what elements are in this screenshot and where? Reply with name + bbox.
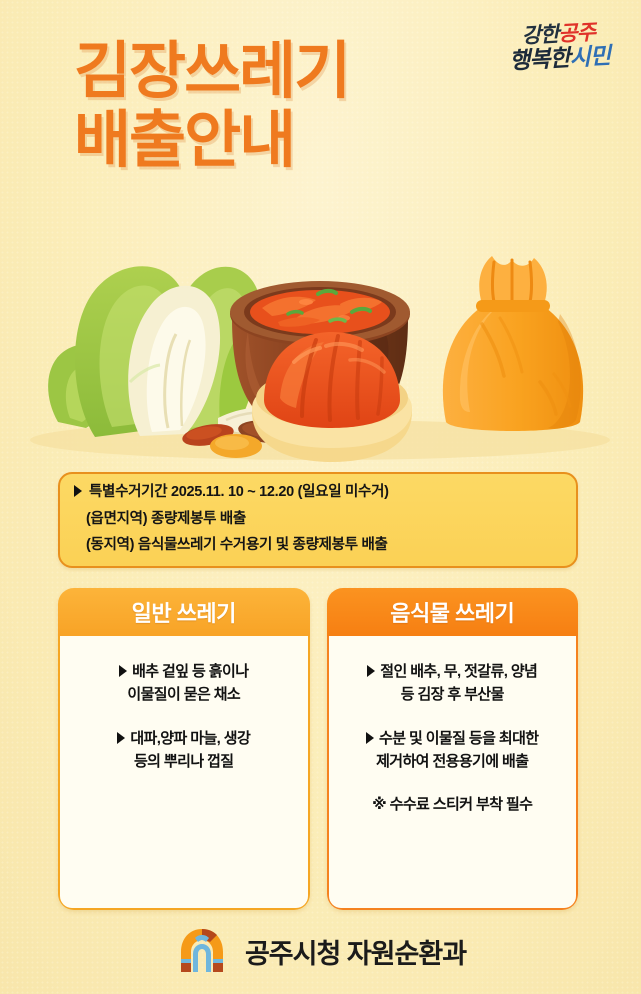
slogan-line-2: 행복한시민 bbox=[495, 44, 624, 74]
triangle-bullet-icon bbox=[74, 485, 82, 497]
food-waste-bullet-1-text-1: 절인 배추, 무, 젓갈류, 양념 bbox=[380, 663, 537, 680]
triangle-bullet-icon bbox=[366, 732, 374, 744]
food-waste-bullet-2-text-1: 수분 및 이물질 등을 최대한 bbox=[379, 730, 538, 747]
title-line-1: 김장쓰레기 bbox=[74, 42, 349, 103]
food-waste-bullet-1-line-2: 등 김장 후 부산물 bbox=[341, 683, 565, 706]
food-waste-bullet-2-line-2: 제거하여 전용용기에 배출 bbox=[341, 750, 565, 773]
triangle-bullet-icon bbox=[367, 665, 375, 677]
general-waste-bullet-1-line-1: 배추 겉잎 등 흙이나 bbox=[72, 660, 296, 683]
food-waste-bullet-1: 절인 배추, 무, 젓갈류, 양념 등 김장 후 부산물 bbox=[341, 660, 565, 707]
general-waste-bullet-2-text-1: 대파,양파 마늘, 생강 bbox=[130, 730, 250, 747]
general-waste-bullet-2-line-1: 대파,양파 마늘, 생강 bbox=[72, 727, 296, 750]
notice-line-rural: (읍면지역) 종량제봉투 배출 bbox=[74, 512, 560, 527]
card-food-waste: 음식물 쓰레기 절인 배추, 무, 젓갈류, 양념 등 김장 후 부산물 수분 … bbox=[327, 588, 579, 910]
slogan-text-haengbokhan: 행복한 bbox=[509, 44, 571, 73]
waste-bag-icon bbox=[443, 256, 583, 431]
card-general-waste-body: 배추 겉잎 등 흙이나 이물질이 묻은 채소 대파,양파 마늘, 생강 등의 뿌… bbox=[58, 636, 310, 910]
card-food-waste-body: 절인 배추, 무, 젓갈류, 양념 등 김장 후 부산물 수분 및 이물질 등을… bbox=[327, 636, 579, 910]
general-waste-bullet-2: 대파,양파 마늘, 생강 등의 뿌리나 껍질 bbox=[72, 727, 296, 774]
general-waste-bullet-1: 배추 겉잎 등 흙이나 이물질이 묻은 채소 bbox=[72, 660, 296, 707]
triangle-bullet-icon bbox=[117, 732, 125, 744]
food-waste-bullet-2-line-1: 수분 및 이물질 등을 최대한 bbox=[341, 727, 565, 750]
food-waste-bullet-1-line-1: 절인 배추, 무, 젓갈류, 양념 bbox=[341, 660, 565, 683]
kimjang-ingredients-illustration bbox=[0, 222, 641, 472]
food-waste-bullet-2: 수분 및 이물질 등을 최대한 제거하여 전용용기에 배출 bbox=[341, 727, 565, 774]
gongju-arch-logo bbox=[175, 926, 229, 976]
food-waste-sticker-note: ※ 수수료 스티커 부착 필수 bbox=[341, 793, 565, 814]
card-general-waste-header: 일반 쓰레기 bbox=[58, 588, 310, 636]
footer: 공주시청 자원순환과 bbox=[0, 926, 641, 976]
general-waste-bullet-1-text-1: 배추 겉잎 등 흙이나 bbox=[132, 663, 248, 680]
slogan-text-gang-han: 강한 bbox=[521, 23, 559, 48]
waste-category-cards: 일반 쓰레기 배추 겉잎 등 흙이나 이물질이 묻은 채소 대파,양파 마늘, … bbox=[58, 588, 578, 910]
gongju-city-slogan: 강한공주 행복한시민 bbox=[494, 21, 624, 74]
card-general-waste: 일반 쓰레기 배추 겉잎 등 흙이나 이물질이 묻은 채소 대파,양파 마늘, … bbox=[58, 588, 310, 910]
napa-cabbage-icon bbox=[48, 266, 262, 438]
page-title: 김장쓰레기 배출안내 bbox=[74, 42, 349, 172]
notice-period-text: 특별수거기간 2025.11. 10 ~ 12.20 (일요일 미수거) bbox=[89, 484, 389, 500]
general-waste-bullet-2-line-2: 등의 뿌리나 껍질 bbox=[72, 750, 296, 773]
notice-line-urban: (동지역) 음식물쓰레기 수거용기 및 종량제봉투 배출 bbox=[74, 538, 560, 553]
collection-period-notice: 특별수거기간 2025.11. 10 ~ 12.20 (일요일 미수거) (읍면… bbox=[58, 472, 578, 568]
general-waste-bullet-1-line-2: 이물질이 묻은 채소 bbox=[72, 683, 296, 706]
slogan-text-simin: 시민 bbox=[569, 42, 611, 70]
footer-department-text: 공주시청 자원순환과 bbox=[245, 932, 466, 971]
poster-canvas: 강한공주 행복한시민 김장쓰레기 배출안내 bbox=[0, 0, 641, 994]
card-food-waste-header: 음식물 쓰레기 bbox=[327, 588, 579, 636]
triangle-bullet-icon bbox=[119, 665, 127, 677]
title-line-2: 배출안내 bbox=[74, 111, 349, 172]
notice-line-period: 특별수거기간 2025.11. 10 ~ 12.20 (일요일 미수거) bbox=[74, 485, 560, 500]
slogan-text-gongju: 공주 bbox=[558, 21, 596, 46]
